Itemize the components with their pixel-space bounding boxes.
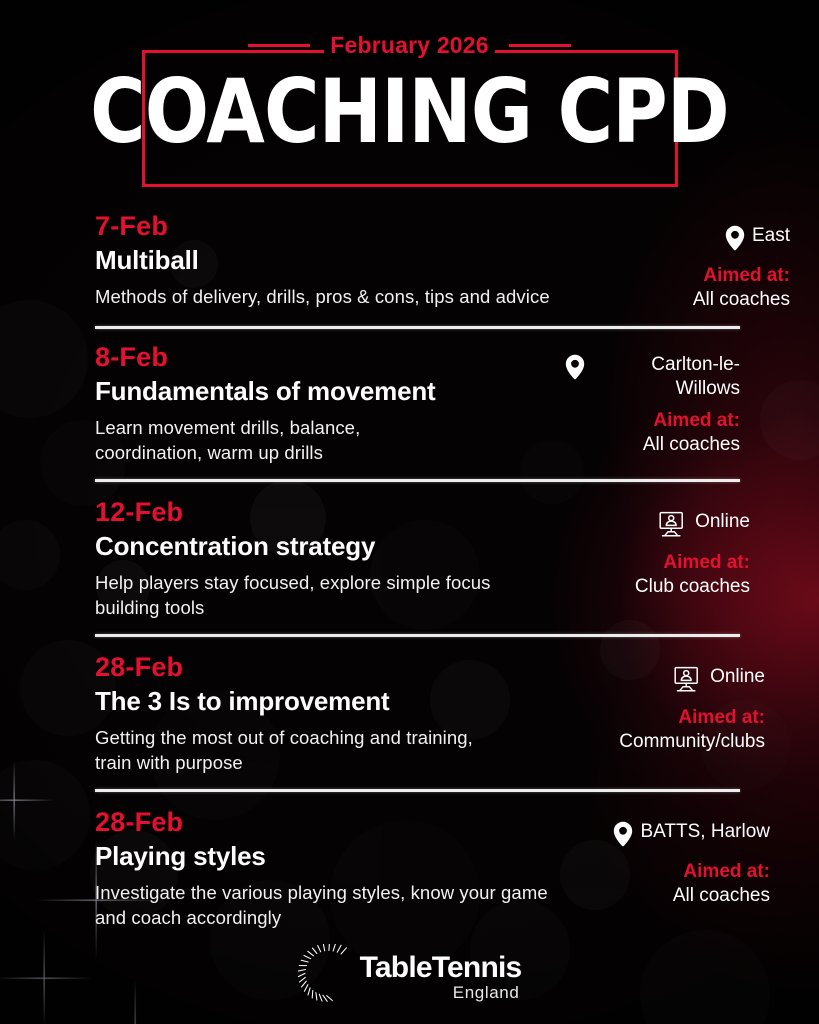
event-list: 7-Feb Multiball Methods of delivery, dri… — [0, 200, 819, 938]
event-title: Fundamentals of movement — [95, 375, 565, 408]
event-item[interactable]: 12-Feb Concentration strategy Help playe… — [0, 482, 819, 634]
event-meta: Online Aimed at: Community/clubs — [575, 651, 765, 754]
event-item[interactable]: 28-Feb The 3 Is to improvement Getting t… — [0, 637, 819, 789]
event-details: 7-Feb Multiball Methods of delivery, dri… — [95, 210, 625, 309]
event-venue-label: Carlton-le-Willows — [592, 353, 740, 401]
event-description: Methods of delivery, drills, pros & cons… — [95, 284, 625, 309]
aimed-at-label: Aimed at: — [575, 860, 770, 884]
aimed-at-value: All coaches — [565, 433, 740, 457]
aimed-at-value: Club coaches — [575, 575, 750, 599]
event-title: The 3 Is to improvement — [95, 685, 575, 718]
aimed-at-value: All coaches — [625, 288, 790, 312]
month-rule-left — [248, 44, 310, 47]
logo-wordmark: TableTennis England — [360, 952, 522, 1002]
event-venue: BATTS, Harlow — [575, 820, 770, 852]
aimed-at-label: Aimed at: — [625, 264, 790, 288]
logo-sub-text: England — [453, 983, 520, 1002]
event-description: Getting the most out of coaching and tra… — [95, 725, 485, 775]
event-venue-label: East — [752, 224, 790, 248]
event-details: 28-Feb The 3 Is to improvement Getting t… — [95, 651, 575, 775]
aimed-at-label: Aimed at: — [575, 551, 750, 575]
event-venue: Online — [575, 665, 765, 698]
location-pin-icon — [725, 225, 745, 256]
event-details: 8-Feb Fundamentals of movement Learn mov… — [95, 341, 565, 465]
aimed-at-value: Community/clubs — [575, 730, 765, 754]
footer: TableTennis England — [0, 944, 819, 1010]
month-label: February 2026 — [324, 32, 495, 59]
event-venue: Carlton-le-Willows — [565, 353, 740, 401]
location-pin-icon — [565, 354, 585, 385]
event-date: 28-Feb — [95, 651, 575, 684]
event-venue-label: BATTS, Harlow — [640, 820, 770, 844]
event-details: 12-Feb Concentration strategy Help playe… — [95, 496, 575, 620]
event-meta: Online Aimed at: Club coaches — [575, 496, 750, 599]
coaching-cpd-poster: COACHING CPD February 2026 7-Feb Multiba… — [0, 0, 819, 1024]
event-meta: BATTS, Harlow Aimed at: All coaches — [575, 806, 770, 908]
month-rule-right — [509, 44, 571, 47]
event-venue: East — [625, 224, 790, 256]
event-meta: Carlton-le-Willows Aimed at: All coaches — [565, 341, 740, 457]
event-description: Investigate the various playing styles, … — [95, 880, 563, 930]
event-details: 28-Feb Playing styles Investigate the va… — [95, 806, 575, 930]
aimed-at-label: Aimed at: — [575, 706, 765, 730]
event-title: Multiball — [95, 244, 625, 277]
event-description: Learn movement drills, balance, coordina… — [95, 415, 425, 465]
online-monitor-icon — [658, 511, 688, 543]
page-title: COACHING CPD — [57, 62, 761, 162]
aimed-at-value: All coaches — [575, 884, 770, 908]
event-title: Concentration strategy — [95, 530, 575, 563]
location-pin-icon — [613, 821, 633, 852]
swoosh-icon — [298, 944, 362, 1010]
event-item[interactable]: 8-Feb Fundamentals of movement Learn mov… — [0, 329, 819, 479]
table-tennis-england-swoosh-logo: TableTennis England — [298, 944, 522, 1010]
event-date: 7-Feb — [95, 210, 625, 243]
online-monitor-icon — [673, 666, 703, 698]
event-date: 12-Feb — [95, 496, 575, 529]
event-venue: Online — [575, 510, 750, 543]
event-date: 28-Feb — [95, 806, 575, 839]
event-venue-label: Online — [710, 665, 765, 689]
logo-main-text: TableTennis — [360, 952, 522, 983]
aimed-at-label: Aimed at: — [565, 409, 740, 433]
event-description: Help players stay focused, explore simpl… — [95, 570, 555, 620]
event-item[interactable]: 28-Feb Playing styles Investigate the va… — [0, 792, 819, 938]
event-date: 8-Feb — [95, 341, 565, 374]
event-meta: East Aimed at: All coaches — [625, 210, 790, 312]
month-banner: February 2026 — [0, 32, 819, 59]
poster-header: COACHING CPD February 2026 — [0, 0, 819, 200]
event-title: Playing styles — [95, 840, 575, 873]
event-venue-label: Online — [695, 510, 750, 534]
event-item[interactable]: 7-Feb Multiball Methods of delivery, dri… — [0, 200, 819, 326]
